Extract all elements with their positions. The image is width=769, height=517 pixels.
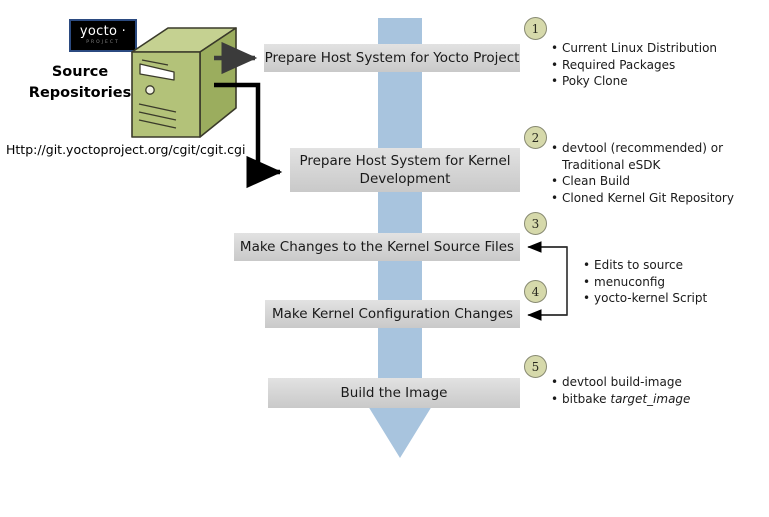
step-5-notes: devtool build-image bitbake target_image	[551, 374, 761, 407]
process-box-prepare-host-kernel[interactable]: Prepare Host System for Kernel Developme…	[290, 148, 520, 192]
note-item: Clean Build	[551, 173, 765, 190]
step-badge-2: 2	[524, 126, 547, 149]
process-box-make-kernel-source-changes[interactable]: Make Changes to the Kernel Source Files	[234, 233, 520, 261]
server-icon	[128, 24, 240, 142]
step-badge-5: 5	[524, 355, 547, 378]
note-item: Edits to source	[583, 257, 763, 274]
workflow-diagram: yocto · PROJECT Source Repositories Http…	[0, 0, 769, 517]
note-item: menuconfig	[583, 274, 763, 291]
source-repository-url: Http://git.yoctoproject.org/cgit/cgit.cg…	[6, 142, 245, 157]
note-item: devtool (recommended) or Traditional eSD…	[551, 140, 765, 173]
step-badge-4: 4	[524, 280, 547, 303]
note-item: Cloned Kernel Git Repository	[551, 190, 765, 207]
main-flow-arrow	[330, 18, 470, 513]
note-item: bitbake target_image	[551, 391, 761, 408]
source-repositories-label: Source Repositories	[14, 62, 146, 104]
step-1-notes: Current Linux Distribution Required Pack…	[551, 40, 761, 90]
steps-3-4-shared-notes: Edits to source menuconfig yocto-kernel …	[583, 257, 763, 307]
note-item: Poky Clone	[551, 73, 761, 90]
source-label-line2: Repositories	[14, 83, 146, 104]
note-command-prefix: bitbake	[562, 392, 610, 406]
logo-wordmark: yocto ·	[80, 25, 126, 38]
note-item: yocto-kernel Script	[583, 290, 763, 307]
process-box-2-text: Prepare Host System for Kernel Developme…	[299, 152, 510, 188]
process-box-prepare-host-yocto[interactable]: Prepare Host System for Yocto Project	[264, 44, 520, 72]
note-command-arg: target_image	[610, 392, 690, 406]
note-item: Required Packages	[551, 57, 761, 74]
process-box-make-kernel-config-changes[interactable]: Make Kernel Configuration Changes	[265, 300, 520, 328]
process-box-build-the-image[interactable]: Build the Image	[268, 378, 520, 408]
source-label-line1: Source	[14, 62, 146, 83]
note-item: devtool build-image	[551, 374, 761, 391]
step-2-notes: devtool (recommended) or Traditional eSD…	[551, 140, 765, 206]
yocto-project-logo: yocto · PROJECT	[69, 19, 137, 52]
note-item: Current Linux Distribution	[551, 40, 761, 57]
step-badge-1: 1	[524, 17, 547, 40]
step-badge-3: 3	[524, 212, 547, 235]
logo-subtext: PROJECT	[86, 39, 119, 46]
